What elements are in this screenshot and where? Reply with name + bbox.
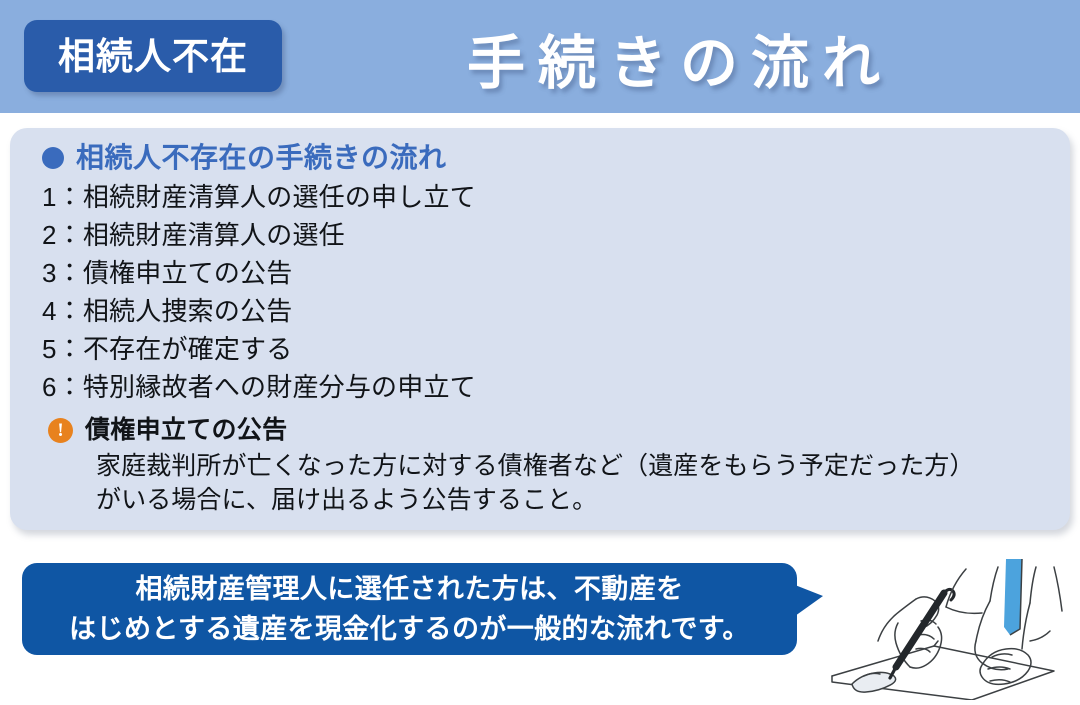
- list-item: 2：相続財産清算人の選任: [42, 216, 1044, 254]
- list-item: 1：相続財産清算人の選任の申し立て: [42, 178, 1044, 216]
- page-title: 手続きの流れ: [300, 12, 1060, 104]
- necktie-shape: [1004, 559, 1022, 635]
- category-badge-label: 相続人不在: [58, 38, 248, 75]
- card-heading: 相続人不存在の手続きの流れ: [42, 144, 1044, 172]
- hand-writing-document-svg: [826, 545, 1080, 700]
- content-card: 相続人不存在の手続きの流れ 1：相続財産清算人の選任の申し立て 2：相続財産清算…: [10, 128, 1070, 530]
- summary-speech-bubble: 相続財産管理人に選任された方は、不動産を はじめとする遺産を現金化するのが一般的…: [22, 563, 797, 655]
- list-item: 4：相続人捜索の公告: [42, 292, 1044, 330]
- note-title: 債権申立ての公告: [85, 418, 287, 443]
- bubble-text-line: はじめとする遺産を現金化するのが一般的な流れです。: [69, 609, 750, 649]
- hand-writing-document-illustration: [826, 545, 1080, 700]
- list-item: 6：特別縁故者への財産分与の申立て: [42, 368, 1044, 406]
- note-header: ! 債権申立ての公告: [48, 418, 1044, 443]
- note-body: 家庭裁判所が亡くなった方に対する債権者など（遺産をもらう予定だった方） がいる場…: [96, 449, 1044, 517]
- alert-exclamation-icon: !: [48, 418, 73, 443]
- list-item: 5：不存在が確定する: [42, 330, 1044, 368]
- page-header: 相続人不在 手続きの流れ: [0, 0, 1080, 113]
- note-body-line: がいる場合に、届け出るよう公告すること。: [96, 483, 1044, 517]
- card-heading-label: 相続人不存在の手続きの流れ: [76, 144, 447, 172]
- filled-circle-icon: [42, 147, 64, 169]
- note-section: ! 債権申立ての公告 家庭裁判所が亡くなった方に対する債権者など（遺産をもらう予…: [48, 418, 1044, 517]
- category-badge: 相続人不在: [24, 20, 282, 92]
- note-body-line: 家庭裁判所が亡くなった方に対する債権者など（遺産をもらう予定だった方）: [96, 449, 1044, 483]
- procedure-step-list: 1：相続財産清算人の選任の申し立て 2：相続財産清算人の選任 3：債権申立ての公…: [36, 178, 1044, 406]
- bubble-text-line: 相続財産管理人に選任された方は、不動産を: [136, 569, 684, 609]
- list-item: 3：債権申立ての公告: [42, 254, 1044, 292]
